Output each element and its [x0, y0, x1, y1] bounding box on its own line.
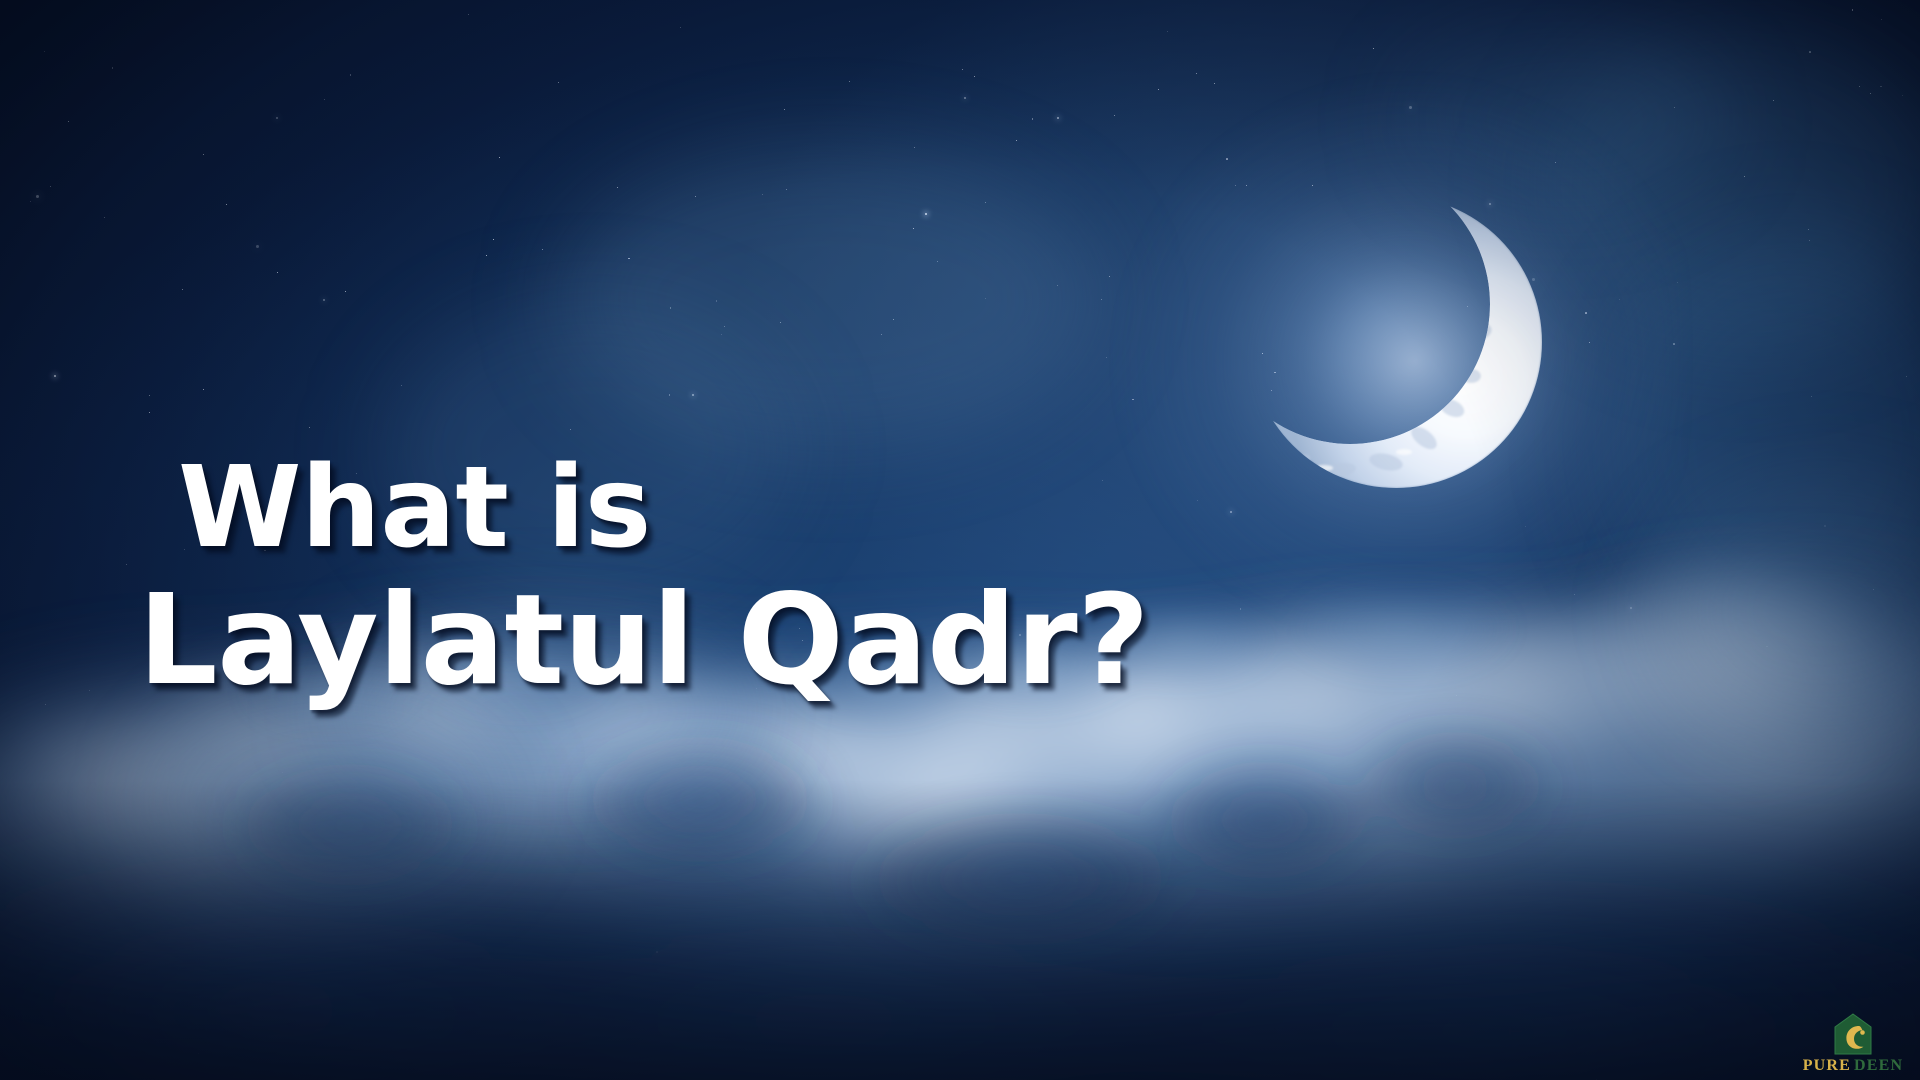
sky-haze-mid-left — [380, 300, 800, 600]
star — [1057, 285, 1058, 286]
star — [1109, 276, 1110, 277]
star — [486, 255, 487, 256]
star — [1102, 480, 1103, 481]
cloud-band — [0, 460, 1920, 1080]
star — [1870, 93, 1871, 94]
star — [1456, 695, 1457, 696]
star — [112, 67, 114, 69]
star — [962, 69, 964, 71]
star — [721, 334, 722, 335]
star — [914, 147, 915, 148]
star — [1032, 118, 1034, 120]
star — [36, 195, 39, 198]
star — [182, 289, 183, 290]
star — [1240, 608, 1242, 610]
star — [324, 99, 325, 100]
star — [786, 189, 787, 190]
star — [780, 322, 781, 323]
star — [1016, 140, 1018, 142]
star — [570, 429, 571, 430]
star — [1574, 594, 1576, 596]
star — [1409, 106, 1412, 109]
star — [974, 76, 975, 77]
star — [68, 121, 69, 122]
crescent-moon — [1228, 180, 1568, 510]
star — [282, 772, 283, 773]
star — [1880, 86, 1882, 88]
star — [628, 258, 630, 260]
mosque-dome-icon — [1830, 1012, 1876, 1056]
star — [256, 245, 259, 248]
star — [1766, 646, 1768, 648]
star — [695, 196, 696, 197]
star — [499, 157, 500, 158]
star — [680, 27, 681, 28]
star — [30, 201, 31, 202]
star — [1555, 162, 1556, 163]
star — [345, 291, 346, 292]
cloud-wisp-left-lower — [150, 700, 510, 900]
star — [893, 319, 894, 320]
title-card-canvas: What is Laylatul Qadr? PURE DEEN — [0, 0, 1920, 1080]
star — [617, 187, 618, 188]
star — [1214, 83, 1215, 84]
star — [226, 204, 228, 206]
headline-line-2: Laylatul Qadr? — [138, 578, 1149, 703]
star — [1057, 117, 1059, 119]
star — [1409, 715, 1410, 716]
star — [849, 81, 850, 82]
sky-haze-upper-left — [560, 150, 1100, 450]
star — [542, 249, 543, 250]
star — [149, 412, 150, 413]
star — [656, 951, 658, 953]
star — [670, 307, 672, 309]
star — [724, 326, 725, 327]
headline-line-1: What is — [178, 452, 651, 564]
star — [1906, 376, 1907, 377]
star — [1197, 500, 1198, 501]
star — [104, 217, 105, 218]
star — [937, 261, 938, 262]
star — [716, 300, 718, 302]
sky-haze-top-center — [1400, 30, 1730, 210]
sky-haze-right-top — [1540, 20, 1920, 350]
cloud-shapes — [0, 460, 1920, 1080]
star — [126, 564, 127, 565]
star — [756, 688, 757, 689]
star — [1274, 372, 1276, 374]
star — [309, 427, 311, 429]
logo-word-primary: PURE — [1803, 1058, 1851, 1074]
star — [1132, 399, 1134, 401]
star — [54, 375, 56, 377]
brand-logo[interactable]: PURE DEEN — [1794, 996, 1912, 1074]
star — [669, 394, 671, 396]
star — [89, 690, 90, 691]
star — [1873, 589, 1874, 590]
star — [1246, 185, 1247, 186]
logo-wordmark: PURE DEEN — [1803, 1058, 1904, 1074]
star — [1532, 278, 1535, 281]
star — [1744, 176, 1745, 177]
sky-haze-right-mid — [1600, 230, 1920, 650]
star — [1809, 51, 1811, 53]
star — [1619, 299, 1620, 300]
vignette-overlay — [0, 0, 1920, 1080]
star — [1811, 396, 1812, 397]
star — [45, 704, 46, 705]
moon-shape — [1228, 180, 1568, 510]
moon-glow — [1118, 80, 1678, 620]
star — [1881, 19, 1882, 20]
star — [50, 186, 51, 187]
star — [964, 97, 966, 99]
star — [1230, 511, 1232, 513]
star — [264, 550, 266, 552]
star — [1773, 100, 1775, 102]
star — [558, 82, 559, 83]
star — [184, 549, 186, 551]
star — [1630, 607, 1632, 609]
star — [468, 14, 469, 15]
star — [1019, 634, 1021, 636]
star — [1373, 48, 1374, 49]
star — [1114, 115, 1115, 116]
star — [203, 389, 204, 390]
star — [1271, 390, 1272, 391]
star — [1525, 526, 1526, 527]
cloud-wisp-right-edge — [1660, 480, 1920, 740]
star — [1226, 158, 1228, 160]
star — [1101, 299, 1102, 300]
star — [401, 385, 402, 386]
star — [1286, 852, 1287, 853]
star — [1467, 306, 1468, 307]
star — [1809, 240, 1810, 241]
star — [881, 334, 882, 335]
star — [276, 117, 278, 119]
star — [1312, 185, 1313, 186]
star — [1196, 73, 1197, 74]
star — [44, 51, 45, 52]
star — [1106, 357, 1107, 358]
star — [1824, 525, 1826, 527]
star — [149, 395, 150, 396]
bottom-fade-overlay — [0, 780, 1920, 1080]
star — [985, 298, 986, 299]
star — [1235, 185, 1236, 186]
star — [1674, 107, 1675, 108]
logo-word-secondary: DEEN — [1854, 1058, 1903, 1074]
star — [914, 843, 915, 844]
star — [356, 473, 357, 474]
star — [925, 213, 927, 215]
star — [1589, 342, 1591, 344]
star — [203, 154, 204, 155]
star — [1262, 353, 1263, 354]
star — [1677, 282, 1678, 283]
star — [198, 1053, 199, 1054]
star — [1902, 95, 1903, 96]
star-field — [0, 0, 1920, 1080]
star — [1489, 203, 1491, 205]
star — [1808, 229, 1809, 230]
star — [985, 202, 986, 203]
star — [799, 628, 800, 629]
star — [493, 239, 494, 240]
star — [1859, 86, 1860, 87]
star — [692, 394, 694, 396]
star — [1852, 9, 1854, 11]
star — [1673, 343, 1675, 345]
headline-block: What is Laylatul Qadr? — [0, 0, 1920, 1080]
star — [762, 194, 763, 195]
cloud-wisp-left-upper — [330, 620, 750, 800]
star — [277, 272, 278, 273]
star — [1158, 89, 1159, 90]
star — [1167, 31, 1168, 32]
star — [784, 109, 785, 110]
star — [350, 74, 352, 76]
star — [913, 228, 915, 230]
star — [802, 640, 803, 641]
star — [1585, 312, 1587, 314]
star — [323, 299, 325, 301]
